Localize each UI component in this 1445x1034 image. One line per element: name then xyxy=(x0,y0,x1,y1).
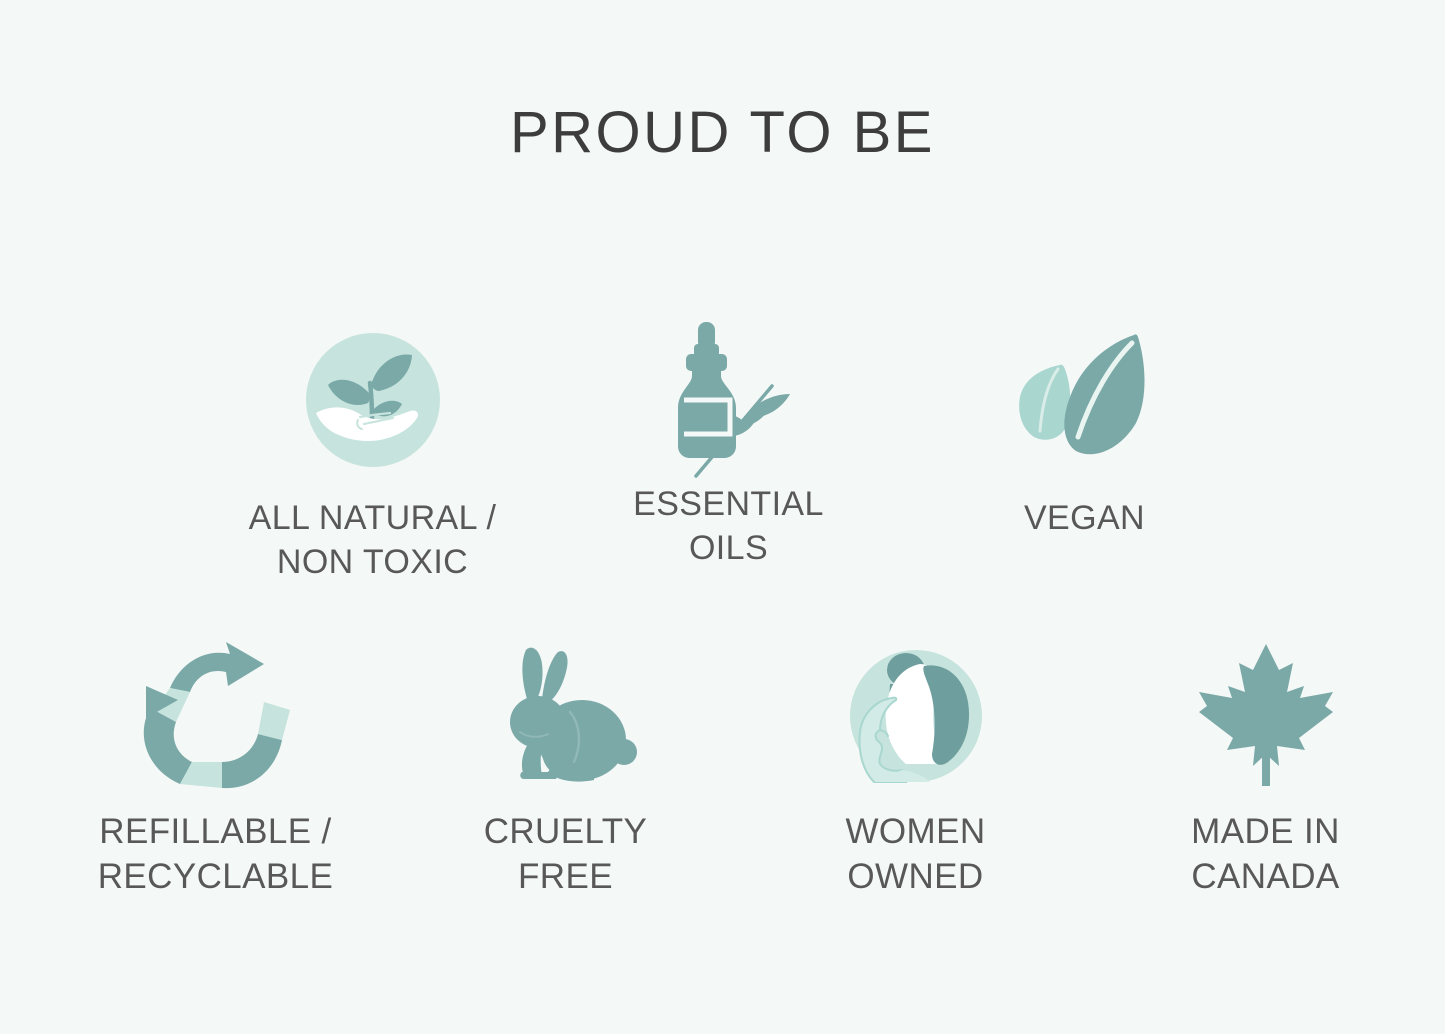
badge-women-owned[interactable]: WOMEN OWNED xyxy=(741,640,1091,900)
badge-all-natural-non-toxic[interactable]: ALL NATURAL / NON TOXIC xyxy=(195,325,551,584)
badge-refillable-recyclable[interactable]: REFILLABLE / RECYCLABLE xyxy=(41,640,391,900)
badge-label: ALL NATURAL / NON TOXIC xyxy=(249,497,497,584)
maple-leaf-icon xyxy=(1187,640,1345,792)
rabbit-icon xyxy=(486,640,646,792)
badge-essential-oils[interactable]: ESSENTIAL OILS xyxy=(551,325,907,570)
badge-vegan[interactable]: VEGAN xyxy=(907,325,1263,541)
page-title: PROUD TO BE xyxy=(0,104,1445,162)
badge-label: WOMEN OWNED xyxy=(845,810,985,900)
badge-label: MADE IN CANADA xyxy=(1191,810,1340,900)
dropper-bottle-herb-icon xyxy=(644,325,814,475)
badge-row-top: ALL NATURAL / NON TOXIC xyxy=(0,325,1445,584)
recycle-arrows-icon xyxy=(136,640,296,792)
badge-cruelty-free[interactable]: CRUELTY FREE xyxy=(391,640,741,900)
badge-label: CRUELTY FREE xyxy=(484,810,648,900)
badge-label: VEGAN xyxy=(1024,497,1145,541)
badge-made-in-canada[interactable]: MADE IN CANADA xyxy=(1091,640,1441,900)
proud-to-be-panel: PROUD TO BE xyxy=(0,0,1445,1034)
badge-label: ESSENTIAL OILS xyxy=(633,483,824,570)
badge-label: REFILLABLE / RECYCLABLE xyxy=(98,810,333,900)
hand-holding-plant-icon xyxy=(298,325,448,475)
mint-leaves-icon xyxy=(1000,325,1170,475)
badge-row-bottom: REFILLABLE / RECYCLABLE xyxy=(0,640,1445,900)
two-women-profiles-icon xyxy=(840,640,992,792)
